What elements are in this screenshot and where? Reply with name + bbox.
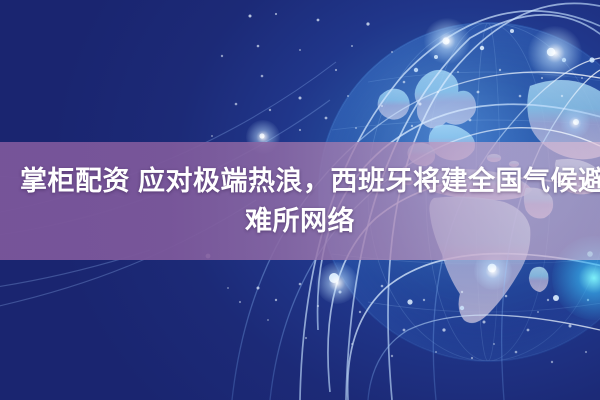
headline-text-block: 掌柜配资 应对极端热浪，西班牙将建全国气候避 难所网络 (0, 142, 600, 260)
image-canvas: 掌柜配资 应对极端热浪，西班牙将建全国气候避 难所网络 (0, 0, 600, 400)
headline-line-2: 难所网络 (245, 201, 355, 241)
headline-line-1: 掌柜配资 应对极端热浪，西班牙将建全国气候避 (18, 161, 582, 201)
